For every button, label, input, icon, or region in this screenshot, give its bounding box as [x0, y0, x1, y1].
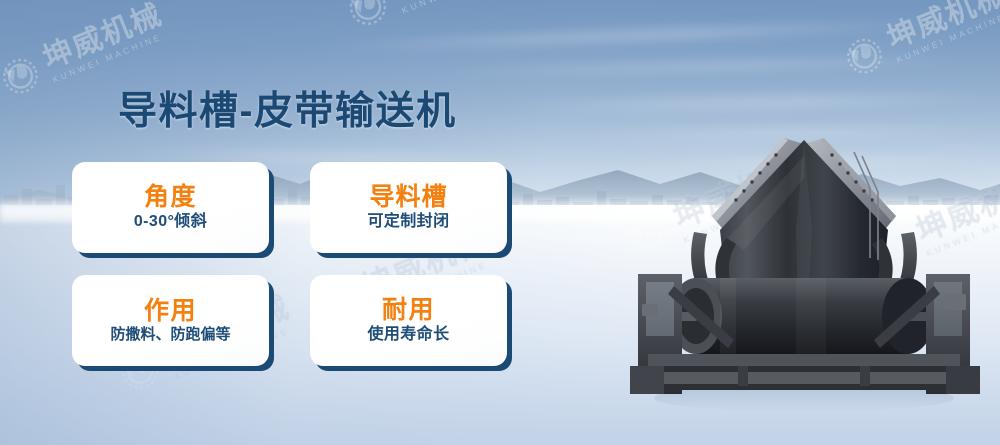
card-subtitle: 0-30°倾斜 [134, 213, 207, 231]
card-title: 角度 [144, 184, 197, 210]
card-subtitle: 可定制封闭 [367, 213, 449, 231]
card-face: 作用 防撒料、防跑偏等 [72, 275, 269, 366]
card-title: 作用 [144, 298, 197, 324]
feature-card-durability[interactable]: 耐用 使用寿命长 [310, 275, 507, 366]
feature-card-guide-chute[interactable]: 导料槽 可定制封闭 [310, 162, 507, 253]
feature-card-row: 作用 防撒料、防跑偏等 耐用 使用寿命长 [72, 275, 527, 366]
card-subtitle: 使用寿命长 [367, 326, 449, 344]
card-title: 耐用 [382, 297, 435, 323]
card-title: 导料槽 [369, 184, 447, 210]
card-face: 耐用 使用寿命长 [310, 275, 507, 366]
page-title: 导料槽-皮带输送机 [118, 80, 457, 136]
card-face: 角度 0-30°倾斜 [72, 162, 269, 253]
feature-card-function[interactable]: 作用 防撒料、防跑偏等 [72, 275, 269, 366]
belt-conveyor-guide-chute-photo [608, 126, 1000, 418]
feature-card-angle[interactable]: 角度 0-30°倾斜 [72, 162, 269, 253]
card-subtitle: 防撒料、防跑偏等 [110, 327, 230, 344]
feature-card-row: 角度 0-30°倾斜 导料槽 可定制封闭 [72, 162, 527, 253]
product-banner: 坤威机械 KUNWEI MACHINE 坤威机械 KUNWEI MACHINE … [0, 0, 1000, 445]
card-face: 导料槽 可定制封闭 [310, 162, 507, 253]
feature-card-grid: 角度 0-30°倾斜 导料槽 可定制封闭 作用 防撒料、防跑偏等 [72, 162, 527, 366]
